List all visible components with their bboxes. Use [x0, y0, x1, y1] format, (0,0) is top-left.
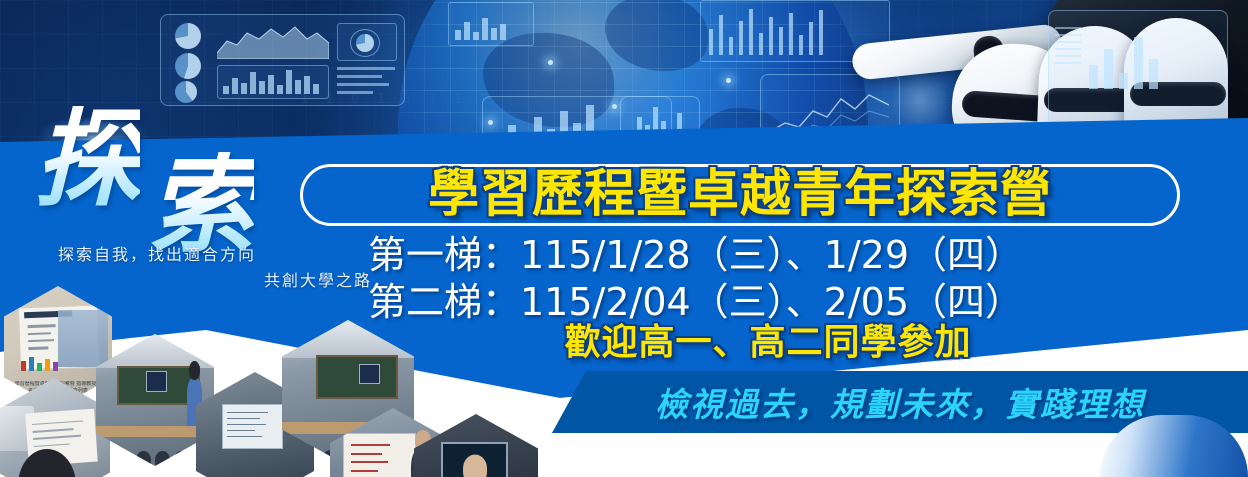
hud-bar-chart — [1089, 29, 1158, 89]
node-dot — [548, 60, 553, 65]
subtitle-block: 探索自我，找出適合方向 共創大學之路 — [58, 242, 378, 294]
projection-slide — [222, 404, 283, 449]
hud-candlestick-bars — [709, 9, 823, 55]
page-title: 學習歷程暨卓越青年探索營 — [300, 163, 1180, 225]
hud-axis-labels — [1055, 27, 1081, 64]
session-date-line-1: 第一梯：115/1/28（三）、1/29（四） — [368, 232, 1168, 279]
hud-radar-box — [337, 23, 397, 61]
poster-books — [21, 357, 58, 371]
video-screen — [441, 442, 508, 477]
hud-dashboard-panel — [160, 14, 405, 106]
audience-heads — [196, 451, 314, 477]
hud-area-chart — [217, 23, 329, 59]
session-date-line-2: 第二梯：115/2/04（三）、2/05（四） — [368, 279, 1168, 326]
subtitle-line-2: 共創大學之路 — [58, 268, 378, 294]
promo-banner: 1 0 1 1 0 0 1 0 1 1 0 1 0 0 1 1 0 1 0 0 … — [0, 0, 1248, 477]
node-dot — [726, 78, 731, 83]
session-dates: 第一梯：115/1/28（三）、1/29（四） 第二梯：115/2/04（三）、… — [368, 232, 1168, 326]
poster-city-illustration — [58, 310, 108, 366]
hud-pie-chart — [175, 81, 197, 103]
hud-pie-chart — [175, 53, 201, 79]
subtitle-line-1: 探索自我，找出適合方向 — [58, 245, 256, 264]
hud-text-lines — [337, 67, 395, 94]
blackboard — [316, 355, 398, 399]
projector-screen — [146, 371, 167, 392]
hud-bar-chart-box — [217, 65, 329, 99]
whiteboard — [343, 433, 416, 477]
hud-mini-panel — [448, 2, 534, 46]
poster-line — [28, 346, 48, 349]
hud-bar-chart — [223, 70, 319, 94]
projector-screen — [359, 364, 380, 384]
poster-line — [27, 324, 55, 327]
hud-pie-chart — [175, 23, 201, 49]
hud-pie-chart — [356, 34, 374, 52]
hud-bar-chart — [455, 18, 506, 40]
poster-line — [28, 339, 55, 342]
poster-line — [28, 331, 51, 334]
speaker-face — [463, 455, 487, 477]
